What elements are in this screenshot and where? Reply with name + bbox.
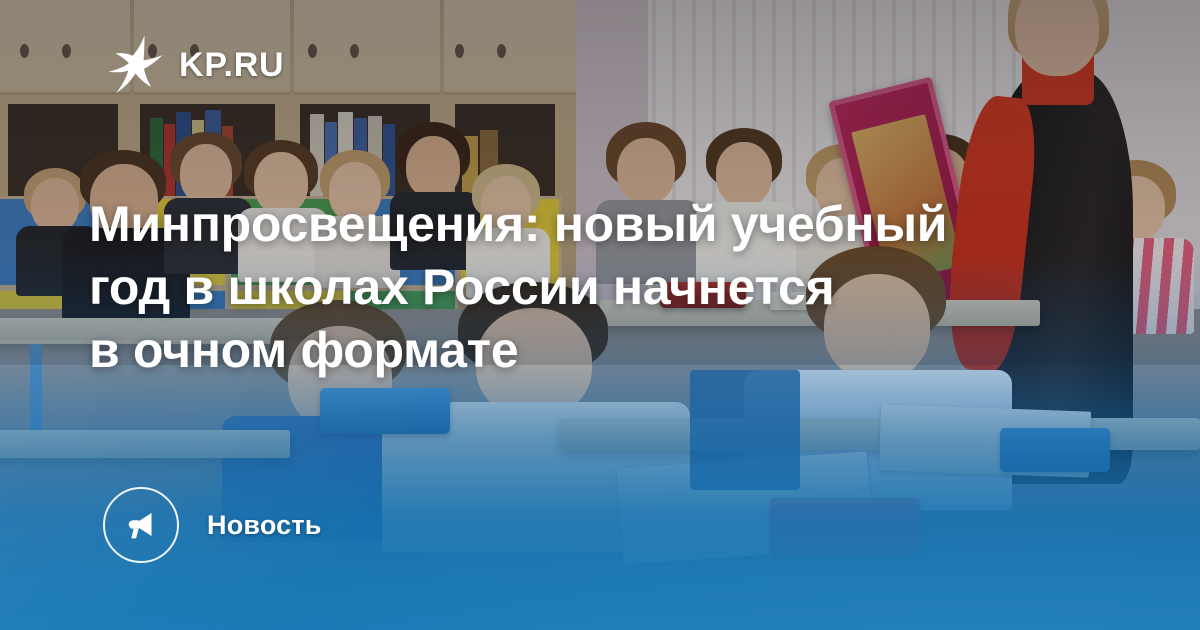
brand-name: KP.RU xyxy=(179,48,284,82)
headline-line-3: в очном формате xyxy=(89,319,1089,382)
category-label: Новость xyxy=(207,510,322,541)
headline-line-1: Минпросвещения: новый учебный xyxy=(89,193,1089,256)
swallow-bird-logo-icon xyxy=(103,33,165,97)
category-badge[interactable]: Новость xyxy=(103,487,322,563)
page-title: Минпросвещения: новый учебный год в школ… xyxy=(89,193,1089,382)
headline-line-2: год в школах России начнется xyxy=(89,256,1089,319)
blue-sheen-highlight xyxy=(0,340,1200,630)
brand-lockup[interactable]: KP.RU xyxy=(103,33,284,97)
news-share-card: KP.RU Минпросвещения: новый учебный год … xyxy=(0,0,1200,630)
megaphone-icon xyxy=(103,487,179,563)
